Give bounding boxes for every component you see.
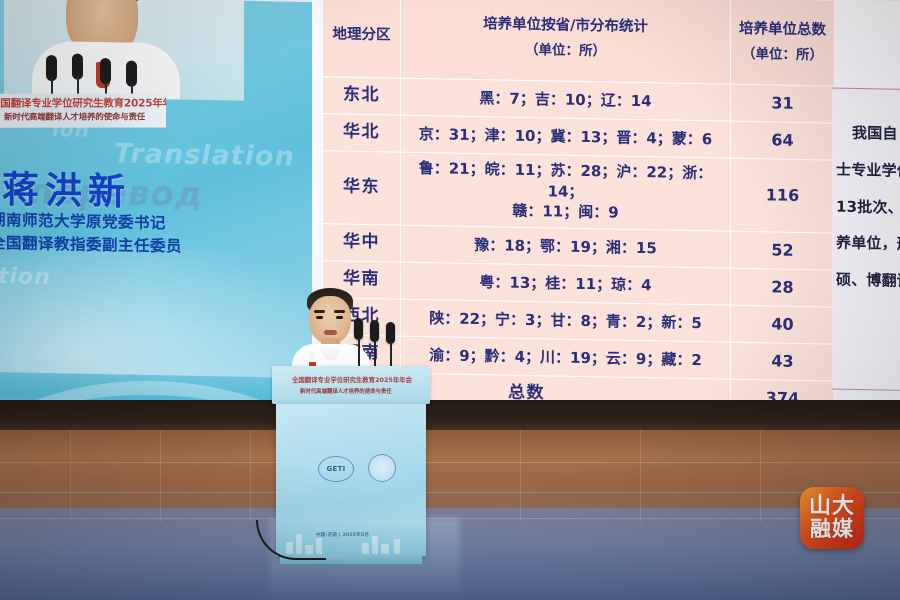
header-distribution-unit: （单位：所） — [403, 39, 728, 64]
cell-total: 43 — [731, 342, 835, 381]
skyline-building — [372, 536, 378, 556]
speaker-mouth — [324, 330, 337, 335]
speaker-eye — [316, 316, 323, 319]
cell-distribution: 黑：7；吉：10；辽：14 — [401, 78, 731, 121]
table-row: 华东 鲁：21；皖：11；苏：28；沪：22；浙：14； 赣：11；闽：9 11… — [323, 151, 835, 233]
podium-banner-title: 全国翻译专业学位研究生教育2025年年会 — [292, 375, 412, 384]
watermark-logo-line2: 融媒 — [810, 519, 854, 540]
speaker-title-secondary: 全国翻译教指委副主任委员 — [0, 231, 182, 257]
cell-region: 华东 — [323, 151, 401, 225]
speaker-eyebrow — [334, 310, 345, 313]
presentation-slide: 地理分区 培养单位按省/市分布统计 （单位：所） 培养单位总数 （单位：所） 东 — [312, 0, 900, 429]
right-panel-line-2: 士专业学位 — [836, 151, 900, 189]
cell-total: 64 — [731, 121, 835, 160]
conference-photo: Translation перевод tion ion 全国翻译专业学位研究生… — [0, 0, 900, 600]
stage-floor — [0, 400, 900, 600]
cell-distribution-line1: 黑：7；吉：10；辽：14 — [404, 86, 727, 113]
cell-distribution-line1: 京：31；津：10；冀：13；晋：4；蒙：6 — [404, 123, 727, 150]
microphone-icon — [354, 318, 363, 340]
floor-seam-vertical — [520, 430, 521, 522]
cell-distribution-line1: 陕：22；宁：3；甘：8；青：2；新：5 — [404, 307, 727, 334]
header-total: 培养单位总数 （单位：所） — [731, 0, 835, 86]
floor-seam — [0, 462, 900, 463]
cell-distribution: 鲁：21；皖：11；苏：28；沪：22；浙：14； 赣：11；闽：9 — [401, 152, 731, 231]
floor-seam-vertical — [640, 430, 641, 522]
podium-banner-subtitle: 新时代高端翻译人才培养的使命与责任 — [300, 387, 392, 395]
cell-distribution: 粤：13；桂：11；琼：4 — [401, 262, 731, 305]
cell-distribution-line1: 渝：9；黔：4；川：19；云：9；藏：2 — [404, 344, 727, 371]
floor-seam-vertical — [250, 430, 251, 522]
banner-title: 全国翻译专业学位研究生教育2025年年会 — [0, 95, 166, 110]
right-panel-line-3: 13批次、3 — [836, 188, 900, 226]
floor-seam-vertical — [70, 430, 71, 522]
header-distribution-label: 培养单位按省/市分布统计 — [483, 16, 648, 35]
right-panel-line-5: 硕、博翻译 — [836, 262, 900, 300]
cell-region: 东北 — [323, 77, 401, 115]
cell-distribution: 陕：22；宁：3；甘：8；青：2；新：5 — [401, 299, 731, 342]
stage-front-edge — [0, 400, 900, 434]
floor-seam-vertical — [760, 430, 761, 522]
cell-total: 28 — [731, 268, 835, 307]
distribution-table: 地理分区 培养单位按省/市分布统计 （单位：所） 培养单位总数 （单位：所） 东 — [322, 0, 835, 419]
speaker-name: 蒋洪新 — [2, 159, 131, 215]
cell-total: 52 — [731, 231, 835, 270]
header-distribution: 培养单位按省/市分布统计 （单位：所） — [401, 0, 731, 84]
cell-distribution: 豫：18；鄂：19；湘：15 — [401, 225, 731, 268]
banner-subtitle: 新时代高端翻译人才培养的使命与责任 — [4, 110, 145, 122]
live-video-feed — [4, 0, 244, 101]
header-total-unit: （单位：所） — [733, 45, 832, 65]
speaker-face — [309, 296, 351, 344]
floor-seam — [0, 492, 900, 493]
mic-stand — [374, 340, 376, 368]
screen-watermark-translation: Translation — [114, 138, 295, 172]
stage-wood-surface — [0, 430, 900, 518]
cell-distribution-line1: 粤：13；桂：11；琼：4 — [404, 270, 727, 297]
table-head: 地理分区 培养单位按省/市分布统计 （单位：所） 培养单位总数 （单位：所） — [323, 0, 835, 86]
table-header-row: 地理分区 培养单位按省/市分布统计 （单位：所） 培养单位总数 （单位：所） — [323, 0, 835, 86]
podium-banner: 全国翻译专业学位研究生教育2025年年会 新时代高端翻译人才培养的使命与责任 — [272, 366, 430, 404]
cell-region: 华中 — [323, 224, 401, 262]
header-total-label: 培养单位总数 — [739, 21, 826, 39]
cell-distribution-line1: 豫：18；鄂：19；湘：15 — [404, 233, 727, 260]
left-projection-screen: Translation перевод tion ion 全国翻译专业学位研究生… — [0, 0, 312, 422]
microphone-icon — [386, 322, 395, 344]
watermark-logo-line1: 山大 — [809, 496, 855, 518]
cell-region: 华北 — [323, 114, 401, 152]
speaker-eyebrow — [314, 310, 325, 313]
conference-banner: 全国翻译专业学位研究生教育2025年年会 新时代高端翻译人才培养的使命与责任 — [0, 93, 166, 127]
microphone-icon — [370, 320, 379, 342]
slide-right-text-panel: 我国自 士专业学位 13批次、3 养单位，形 硕、博翻译 — [832, 88, 900, 392]
mic-stand — [358, 338, 360, 368]
cell-distribution: 京：31；津：10；冀：13；晋：4；蒙：6 — [401, 115, 731, 158]
mic-stand — [390, 342, 392, 368]
right-panel-line-4: 养单位，形 — [836, 225, 900, 263]
speaker-title-primary: 湖南师范大学原党委书记 — [0, 208, 166, 233]
cell-total: 31 — [731, 84, 835, 123]
screen-watermark-tion: tion — [0, 264, 51, 290]
university-emblem-icon — [368, 454, 396, 482]
right-panel-line-1: 我国自 — [836, 115, 900, 153]
geti-logo-icon: GETI — [318, 456, 354, 482]
cell-total: 40 — [731, 305, 835, 344]
header-region: 地理分区 — [323, 0, 401, 78]
geti-logo-text: GETI — [326, 465, 345, 473]
floor-seam-vertical — [160, 430, 161, 522]
speaker-eye — [336, 316, 343, 319]
cell-total: 116 — [731, 158, 835, 233]
cell-distribution: 渝：9；黔：4；川：19；云：9；藏：2 — [401, 336, 731, 379]
cell-distribution-line1: 鲁：21；皖：11；苏：28；沪：22；浙：14； — [404, 158, 727, 205]
distribution-table-wrapper: 地理分区 培养单位按省/市分布统计 （单位：所） 培养单位总数 （单位：所） 东 — [322, 0, 834, 419]
media-watermark-logo: 山大 融媒 — [800, 487, 864, 549]
